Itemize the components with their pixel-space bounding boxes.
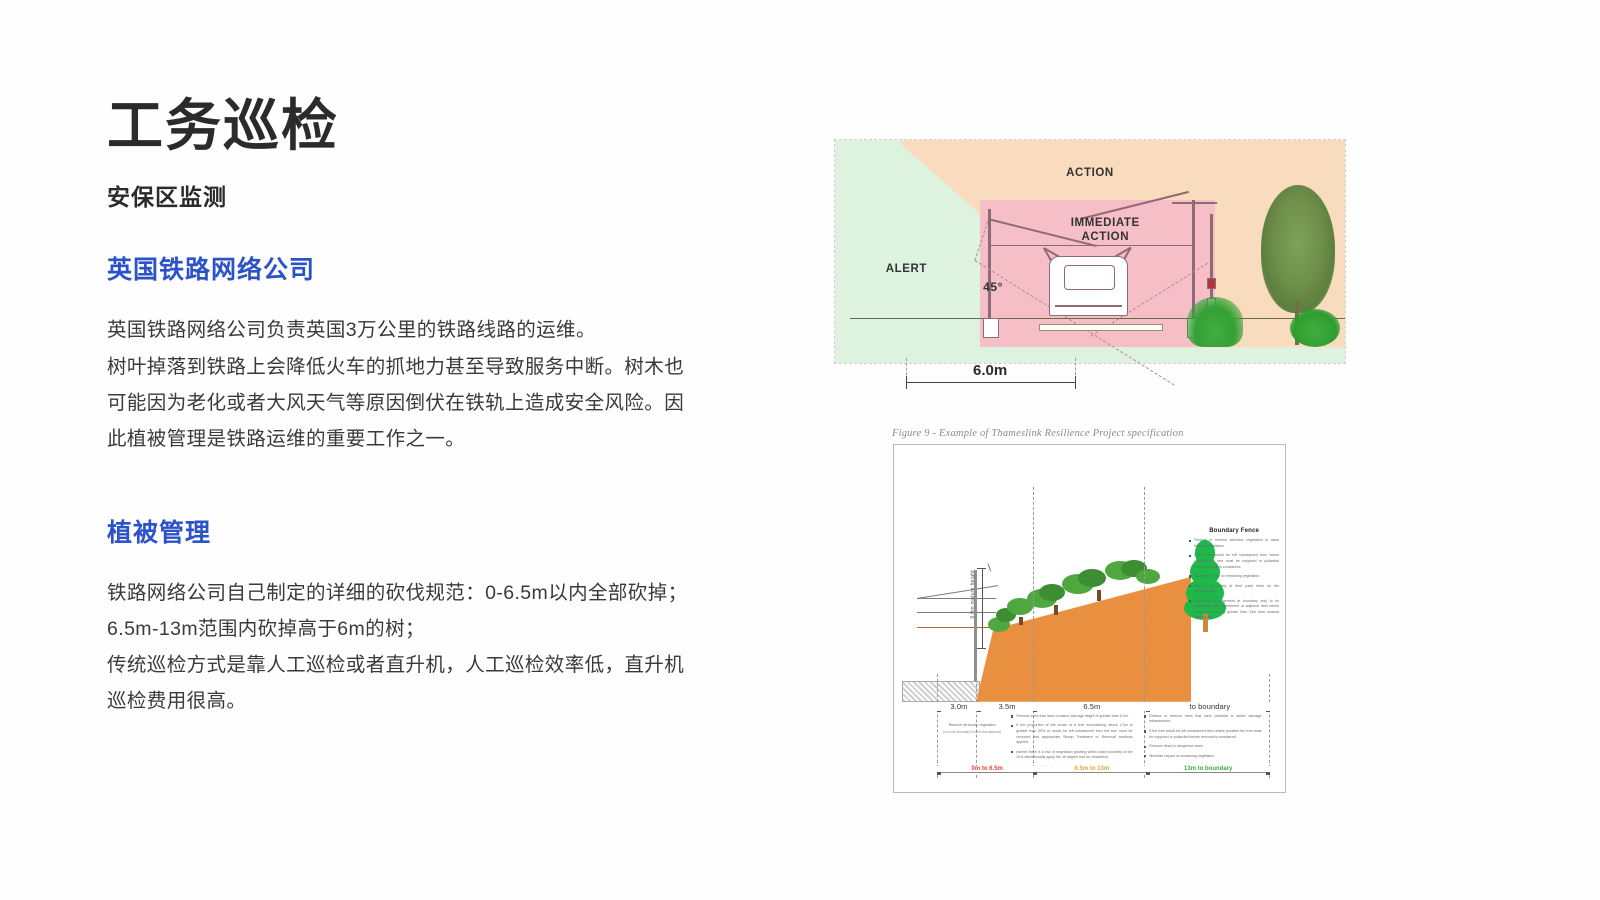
height-dimension-label: 6.0m mature height xyxy=(970,570,976,618)
body-paragraph-vegetation: 铁路网络公司自己制定的详细的砍伐规范：0-6.5m以内全部砍掉； 6.5m-13… xyxy=(107,575,727,719)
boundary-fence-bullets: Reduce or remove selective vegetation to… xyxy=(1189,538,1279,621)
body-line: 巡检费用很高。 xyxy=(107,683,727,719)
dimension-guide xyxy=(937,674,938,778)
body-line: 树叶掉落到铁路上会降低火车的抓地力甚至导致服务中断。树木也 xyxy=(107,349,727,385)
section-heading-vegetation: 植被管理 xyxy=(107,513,727,549)
annotation-bullet: Remove trees that have a mature average … xyxy=(1011,714,1132,720)
body-line: 可能因为老化或者大风天气等原因倒伏在铁轨上造成安全风险。因 xyxy=(107,385,727,421)
contact-wire xyxy=(1080,245,1192,247)
dimension-tick-right xyxy=(1075,376,1076,389)
train-skirt xyxy=(1055,305,1122,307)
figure-column: ACTION IMMEDIATE ACTION ALERT 45° 6.0m F… xyxy=(834,139,1346,394)
text-column: 工务巡检 安保区监测 英国铁路网络公司 英国铁路网络公司负责英国3万公里的铁路线… xyxy=(107,96,727,719)
annotation-column-boundary: Reduce or remove trees that have potenti… xyxy=(1144,714,1261,763)
annotation-subnote: (or to the boundary if within this dista… xyxy=(941,730,1004,735)
annotation-bullet: If the proportion of the crown of a tree… xyxy=(1011,723,1132,745)
dimension-guide xyxy=(1269,674,1270,778)
dimension-label-6-5m: 6.5m xyxy=(1033,702,1150,711)
height-dimension-cap-bottom xyxy=(977,648,986,649)
embankment-spec-figure: 6.0m mature height 3.0m 3.5m 6.5m xyxy=(893,444,1286,793)
annotation-bullet: (where there is a risk of vegetation gro… xyxy=(1011,750,1132,761)
body-line: 此植被管理是铁路运维的重要工作之一。 xyxy=(107,421,727,457)
body-paragraph-company: 英国铁路网络公司负责英国3万公里的铁路线路的运维。 树叶掉落到铁路上会降低火车的… xyxy=(107,312,727,456)
running-rail xyxy=(917,627,995,628)
alert-zone-label: ALERT xyxy=(855,263,957,275)
angle-label: 45° xyxy=(968,280,1019,294)
annotation-column-6-5m: Remove trees that have a mature average … xyxy=(1011,714,1132,770)
catenary-line xyxy=(917,585,998,599)
boundary-fence-panel: Boundary Fence Reduce or remove selectiv… xyxy=(1189,528,1279,625)
page-title: 工务巡检 xyxy=(107,96,727,156)
signal-lamp-red xyxy=(1207,278,1216,289)
train-front-elevation xyxy=(1049,256,1128,316)
dimension-label-3-0m: 3.0m xyxy=(937,702,981,711)
tree-trunk xyxy=(1097,590,1101,601)
mast-foundation-left xyxy=(983,318,999,338)
zone-band-bar: 0m to 6.5m 6.5m to 13m 13m to boundary xyxy=(937,768,1269,776)
lineside-shrub-palm xyxy=(1187,297,1243,347)
dimension-label-6m: 6.0m xyxy=(906,362,1075,379)
track-line-upper xyxy=(917,598,995,599)
annotation-text: Remove all woody vegetation xyxy=(941,723,1004,729)
catenary-mast-right xyxy=(1192,200,1195,320)
height-dimension-line xyxy=(982,568,983,648)
track-line-mid xyxy=(917,612,995,613)
annotation-bullet: Assess the safety of third party trees o… xyxy=(1189,584,1279,595)
distance-dimension-row: 3.0m 3.5m 6.5m to boundary xyxy=(937,704,1269,714)
body-line: 英国铁路网络公司负责英国3万公里的铁路线路的运维。 xyxy=(107,312,727,348)
boundary-fence-title: Boundary Fence xyxy=(1189,528,1279,534)
annotation-bullet: Reduce or remove trees that have potenti… xyxy=(1144,714,1261,725)
annotation-bullet: If the tree would be left unbalanced the… xyxy=(1144,729,1261,740)
annotation-bullet: Minimise impact on remaining vegetation xyxy=(1144,754,1261,760)
shrub-trunk xyxy=(1019,617,1023,625)
annotation-bullet: Reduce or remove selective vegetation to… xyxy=(1189,538,1279,549)
annotation-column-woody: Remove all woody vegetation (or to the b… xyxy=(941,723,1004,735)
clearance-dimension-row: 6.0m xyxy=(834,364,1346,394)
zone-band-label-orange: 6.5m to 13m xyxy=(1033,766,1150,772)
train-windscreen xyxy=(1064,265,1115,290)
figure-caption: Figure 9 - Example of Thameslink Resilie… xyxy=(892,428,1184,439)
dimension-label-3-5m: 3.5m xyxy=(977,702,1038,711)
annotation-bullet: Minimise impact on remaining vegetation. xyxy=(1189,574,1279,580)
slide-root: 工务巡检 安保区监测 英国铁路网络公司 英国铁路网络公司负责英国3万公里的铁路线… xyxy=(0,0,1600,900)
catenary-mast-left xyxy=(988,209,991,321)
shrub xyxy=(1136,569,1160,584)
body-line: 传统巡检方式是靠人工巡检或者直升机，人工巡检效率低，直升机 xyxy=(107,647,727,683)
body-line: 铁路网络公司自己制定的详细的砍伐规范：0-6.5m以内全部砍掉； xyxy=(107,575,727,611)
immediate-action-zone-label: IMMEDIATE ACTION xyxy=(1039,216,1172,245)
bracket-arm xyxy=(1172,202,1218,204)
page-subtitle: 安保区监测 xyxy=(107,178,727,212)
embankment-slope xyxy=(976,577,1191,702)
dimension-line xyxy=(906,382,1075,383)
tree-trunk xyxy=(1054,605,1058,615)
track-formation xyxy=(902,681,980,702)
mast-bracket xyxy=(987,563,991,571)
action-zone-label: ACTION xyxy=(835,167,1345,179)
tree-crown xyxy=(1078,569,1106,587)
body-line: 6.5m-13m范围内砍掉高于6m的树； xyxy=(107,611,727,647)
annotation-bullet: Remove dead or dangerous trees xyxy=(1144,744,1261,750)
zone-band-label-green: 13m to boundary xyxy=(1146,766,1270,772)
zone-band-label-red: 0m to 6.5m xyxy=(937,766,1037,772)
tree-crown xyxy=(1039,584,1065,601)
annotation-bullet: If the tree would be left unbalanced the… xyxy=(1189,553,1279,570)
clearance-cross-section-figure: ACTION IMMEDIATE ACTION ALERT 45° xyxy=(834,139,1346,364)
height-dimension-cap-top xyxy=(977,568,986,569)
tree-canopy xyxy=(1261,185,1335,313)
track-ballast xyxy=(1039,324,1163,331)
dimension-label-to-boundary: to boundary xyxy=(1146,702,1273,711)
section-heading-company: 英国铁路网络公司 xyxy=(107,250,727,286)
annotation-bullet: Vegetation Management at boundary only t… xyxy=(1189,599,1279,621)
